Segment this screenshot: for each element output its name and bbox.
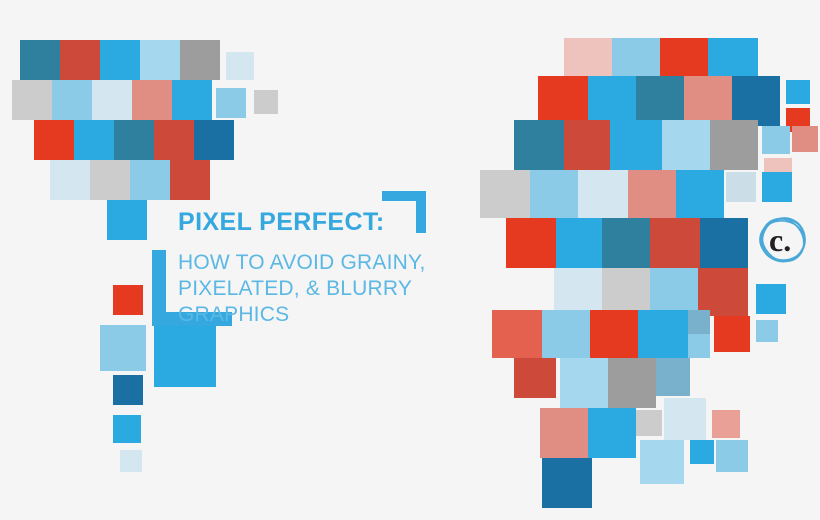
right-mosaic-tile [762,172,792,202]
left-mosaic-tile [216,88,246,118]
left-mosaic-tile [20,40,60,80]
right-mosaic-tile [650,268,698,316]
right-mosaic-tile [792,126,818,152]
right-mosaic-tile [698,268,748,316]
left-mosaic-tile [180,40,220,80]
right-mosaic-tile [700,218,748,268]
right-mosaic-tile [714,316,750,352]
left-mosaic-tile [52,80,92,120]
right-mosaic-tile [590,310,638,358]
left-mosaic-tile [90,160,130,200]
page-title: PIXEL PERFECT: [178,208,518,236]
right-mosaic-tile [564,38,612,76]
right-mosaic-tile [656,358,690,396]
right-mosaic-tile [708,38,758,76]
left-mosaic-tile [113,375,143,405]
right-mosaic-tile [732,76,780,126]
right-mosaic-tile [636,410,662,436]
right-mosaic-tile [564,120,610,170]
right-mosaic-tile [612,38,660,76]
right-mosaic-tile [756,284,786,314]
left-mosaic-tile [154,120,194,160]
right-mosaic-tile [514,358,556,398]
left-mosaic-tile [74,120,114,160]
right-mosaic-tile [640,440,684,484]
right-mosaic-tile [676,170,724,218]
right-mosaic-tile [786,80,810,104]
left-mosaic-tile [154,325,216,387]
left-mosaic-tile [50,160,90,200]
right-mosaic-tile [688,310,710,334]
left-mosaic-tile [113,285,143,315]
left-mosaic-tile [100,40,140,80]
right-mosaic-tile [628,170,676,218]
right-mosaic-tile [716,440,748,472]
left-mosaic-tile [12,80,52,120]
left-mosaic-tile [194,120,234,160]
right-mosaic-tile [638,310,688,358]
left-mosaic-tile [172,80,212,120]
left-mosaic-tile [60,40,100,80]
c-dot-logo: c. [757,214,809,266]
left-mosaic-tile [130,160,170,200]
left-mosaic-tile [114,120,154,160]
right-mosaic-tile [556,218,602,268]
right-mosaic-tile [610,120,662,170]
right-mosaic-tile [726,172,756,202]
right-mosaic-tile [602,268,650,316]
right-mosaic-tile [662,120,710,170]
right-mosaic-tile [650,218,700,268]
right-mosaic-tile [636,76,684,126]
right-mosaic-tile [514,120,564,170]
right-mosaic-tile [688,334,710,358]
left-mosaic-tile [226,52,254,80]
right-mosaic-tile [710,120,758,170]
pixel-perfect-graphic: PIXEL PERFECT: HOW TO AVOID GRAINY, PIXE… [0,0,820,520]
right-mosaic-tile [542,458,592,508]
right-mosaic-tile [608,358,656,408]
logo-letter: c. [769,222,791,258]
right-mosaic-tile [540,408,588,458]
right-mosaic-tile [542,310,590,358]
right-mosaic-tile [560,358,608,408]
left-mosaic-tile [140,40,180,80]
right-mosaic-tile [690,440,714,464]
right-mosaic-tile [588,76,636,126]
page-subtitle: HOW TO AVOID GRAINY, PIXELATED, & BLURRY… [178,250,518,328]
left-mosaic-tile [170,160,210,200]
right-mosaic-tile [664,398,706,440]
right-mosaic-tile [588,408,636,458]
right-mosaic-tile [538,76,588,126]
right-mosaic-tile [762,126,790,154]
left-mosaic-tile [34,120,74,160]
right-mosaic-tile [756,320,778,342]
left-mosaic-tile [132,80,172,120]
right-mosaic-tile [602,218,650,268]
left-mosaic-tile [100,325,146,371]
left-mosaic-tile [120,450,142,472]
left-mosaic-tile [254,90,278,114]
right-mosaic-tile [712,410,740,438]
logo-svg: c. [757,214,809,266]
right-mosaic-tile [554,268,602,316]
right-mosaic-tile [578,170,628,218]
headline-block: PIXEL PERFECT: HOW TO AVOID GRAINY, PIXE… [178,208,518,328]
right-mosaic-tile [530,170,578,218]
left-mosaic-tile [113,415,141,443]
right-mosaic-tile [660,38,708,76]
left-mosaic-tile [92,80,132,120]
left-mosaic-tile [107,200,147,240]
right-mosaic-tile [684,76,732,126]
